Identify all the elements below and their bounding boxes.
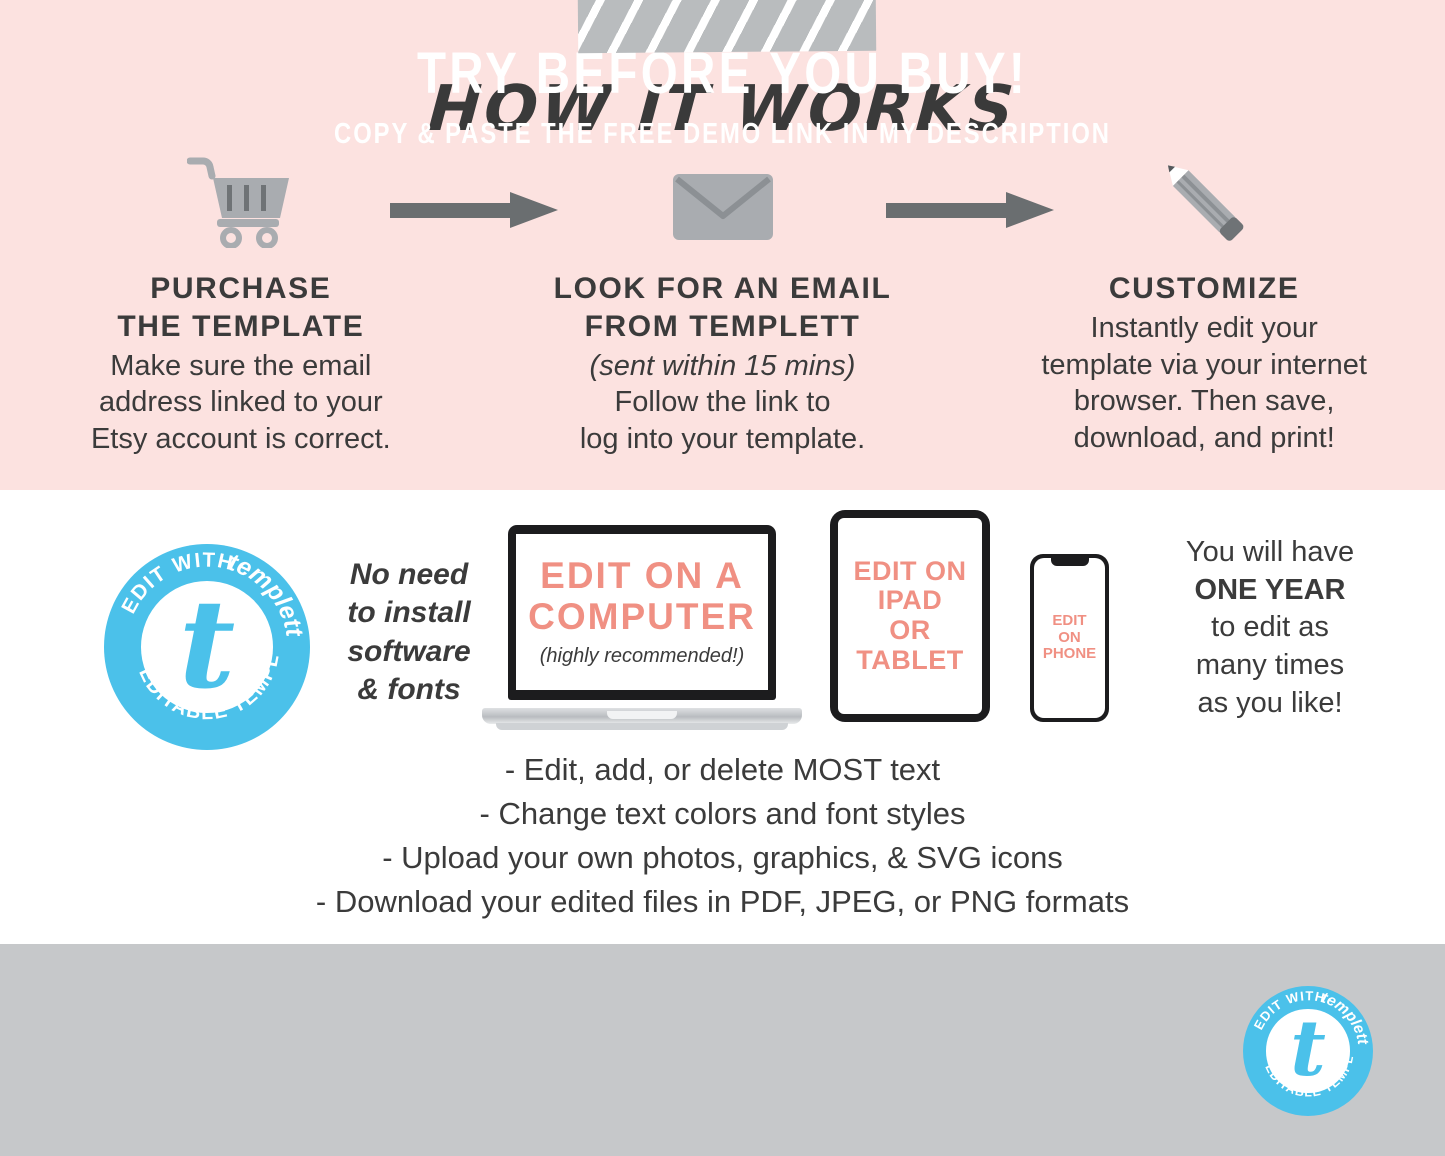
tablet-line3: OR — [889, 615, 931, 645]
no-need-line1: No need — [350, 558, 468, 591]
laptop-screen-heading: EDIT ON A COMPUTER — [528, 556, 756, 637]
no-need-line4: & fonts — [357, 673, 460, 706]
phone-body: EDIT ON PHONE — [1030, 554, 1109, 722]
step-body-line3: browser. Then save, — [1074, 385, 1335, 417]
pencil-icon — [1148, 148, 1260, 248]
phone-line3: PHONE — [1043, 645, 1096, 662]
tablet-line4: TABLET — [856, 645, 963, 675]
step-heading-line1: PURCHASE — [150, 272, 331, 305]
step-heading-line2: FROM TEMPLETT — [585, 310, 861, 343]
one-year-highlight: ONE YEAR — [1195, 574, 1346, 606]
list-item: - Change text colors and font styles — [0, 792, 1445, 836]
list-item: - Edit, add, or delete MOST text — [0, 748, 1445, 792]
one-year-line1: You will have — [1186, 536, 1354, 568]
step-body-line2: address linked to your — [99, 386, 383, 418]
step-body: (sent within 15 mins) Follow the link to… — [580, 348, 865, 458]
tablet-mockup: EDIT ON IPAD OR TABLET — [830, 510, 990, 722]
laptop-screen-subtext: (highly recommended!) — [540, 645, 745, 668]
tablet-body: EDIT ON IPAD OR TABLET — [830, 510, 990, 722]
phone-line1: EDIT — [1052, 612, 1086, 629]
list-item: - Upload your own photos, graphics, & SV… — [0, 836, 1445, 880]
templett-badge-icon: EDIT WITH templett EDITABLE TEMPLATE t — [104, 544, 310, 750]
one-year-line4: many times — [1196, 649, 1344, 681]
envelope-icon — [671, 148, 775, 248]
laptop-head-line2: COMPUTER — [528, 596, 756, 637]
templett-badge-icon: EDIT WITH templett EDITABLE TEMPLATE t — [1243, 986, 1373, 1116]
step-heading: PURCHASE THE TEMPLATE — [117, 270, 364, 346]
tablet-line2: IPAD — [878, 585, 943, 615]
no-need-line2: to install — [347, 596, 470, 629]
feature-bullet-list: - Edit, add, or delete MOST text - Chang… — [0, 748, 1445, 924]
step-look-for-email: LOOK FOR AN EMAIL FROM TEMPLETT (sent wi… — [482, 148, 964, 468]
footer-subtitle: COPY & PASTE THE FREE DEMO LINK IN MY DE… — [130, 118, 1315, 151]
step-heading-line1: CUSTOMIZE — [1109, 272, 1300, 305]
step-body-line3: log into your template. — [580, 423, 865, 455]
one-year-line5: as you like! — [1197, 687, 1342, 719]
step-heading: LOOK FOR AN EMAIL FROM TEMPLETT — [554, 270, 892, 346]
washi-tape-icon — [578, 0, 876, 53]
laptop-head-line1: EDIT ON A — [540, 555, 744, 596]
step-heading-line1: LOOK FOR AN EMAIL — [554, 272, 892, 305]
laptop-foot — [496, 723, 788, 730]
step-body-line1: Instantly edit your — [1091, 312, 1318, 344]
step-heading-line2: THE TEMPLATE — [117, 310, 364, 343]
no-need-to-install-text: No need to install software & fonts — [330, 556, 488, 710]
step-customize: CUSTOMIZE Instantly edit your template v… — [963, 148, 1445, 468]
laptop-base — [482, 708, 802, 724]
step-body-line1: Make sure the email — [110, 350, 371, 382]
phone-line2: ON — [1058, 629, 1081, 646]
shopping-cart-icon — [187, 148, 295, 248]
list-item: - Download your edited files in PDF, JPE… — [0, 880, 1445, 924]
one-year-line3: to edit as — [1211, 611, 1329, 643]
no-need-line3: software — [347, 635, 470, 668]
phone-screen-text: EDIT ON PHONE — [1043, 613, 1096, 663]
try-before-you-buy-banner — [0, 944, 1445, 1156]
laptop-mockup: EDIT ON A COMPUTER (highly recommended!) — [482, 525, 802, 730]
tablet-screen: EDIT ON IPAD OR TABLET — [838, 518, 982, 714]
templett-t-letter: t — [1243, 986, 1373, 1116]
tablet-line1: EDIT ON — [853, 556, 966, 586]
phone-mockup: EDIT ON PHONE — [1030, 554, 1109, 722]
laptop-screen: EDIT ON A COMPUTER (highly recommended!) — [516, 534, 768, 690]
phone-notch — [1051, 558, 1089, 566]
tablet-screen-text: EDIT ON IPAD OR TABLET — [853, 557, 966, 676]
step-heading: CUSTOMIZE — [1109, 270, 1300, 308]
templett-t-letter: t — [104, 544, 310, 750]
step-body-line1: (sent within 15 mins) — [590, 350, 856, 382]
laptop-lid: EDIT ON A COMPUTER (highly recommended!) — [508, 525, 776, 700]
step-body-line2: Follow the link to — [615, 386, 831, 418]
step-purchase: PURCHASE THE TEMPLATE Make sure the emai… — [0, 148, 482, 468]
step-body-line3: Etsy account is correct. — [91, 423, 391, 455]
steps-row: PURCHASE THE TEMPLATE Make sure the emai… — [0, 148, 1445, 468]
phone-screen: EDIT ON PHONE — [1034, 558, 1105, 718]
step-body-line2: template via your internet — [1041, 349, 1367, 381]
step-body-line4: download, and print! — [1074, 422, 1335, 454]
step-body: Make sure the email address linked to yo… — [91, 348, 391, 458]
step-body: Instantly edit your template via your in… — [1041, 310, 1367, 457]
one-year-text: You will have ONE YEAR to edit as many t… — [1120, 534, 1420, 722]
